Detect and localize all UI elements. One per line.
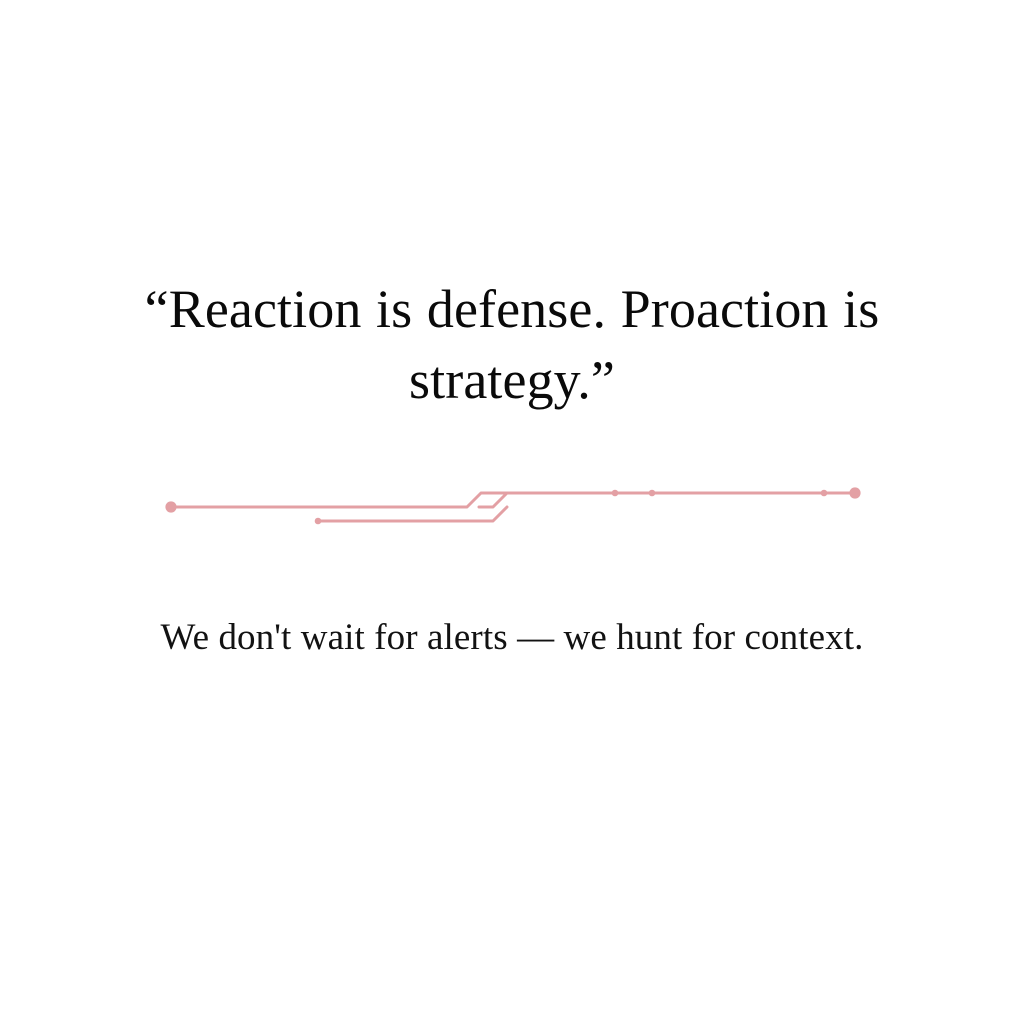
- quote-card: “Reaction is defense. Proaction is strat…: [0, 0, 1024, 1024]
- page-title: “Reaction is defense. Proaction is strat…: [72, 274, 952, 417]
- trace-node-middle-end-small: [612, 490, 619, 497]
- trace-lines: [171, 493, 855, 521]
- circuit-trace-divider-icon: [0, 440, 1024, 555]
- subtitle-block: We don't wait for alerts — we hunt for c…: [0, 614, 1024, 662]
- trace-upper: [479, 493, 855, 507]
- trace-middle: [171, 493, 615, 507]
- quote-block: “Reaction is defense. Proaction is strat…: [0, 274, 1024, 417]
- trace-node-left-large: [165, 501, 176, 512]
- trace-node-stub-start-small: [649, 490, 656, 497]
- trace-node-right-large: [849, 487, 860, 498]
- trace-node-stub-end-small: [821, 490, 828, 497]
- subtitle: We don't wait for alerts — we hunt for c…: [32, 614, 992, 662]
- trace-node-lower-small: [315, 518, 322, 525]
- trace-lower: [318, 507, 507, 521]
